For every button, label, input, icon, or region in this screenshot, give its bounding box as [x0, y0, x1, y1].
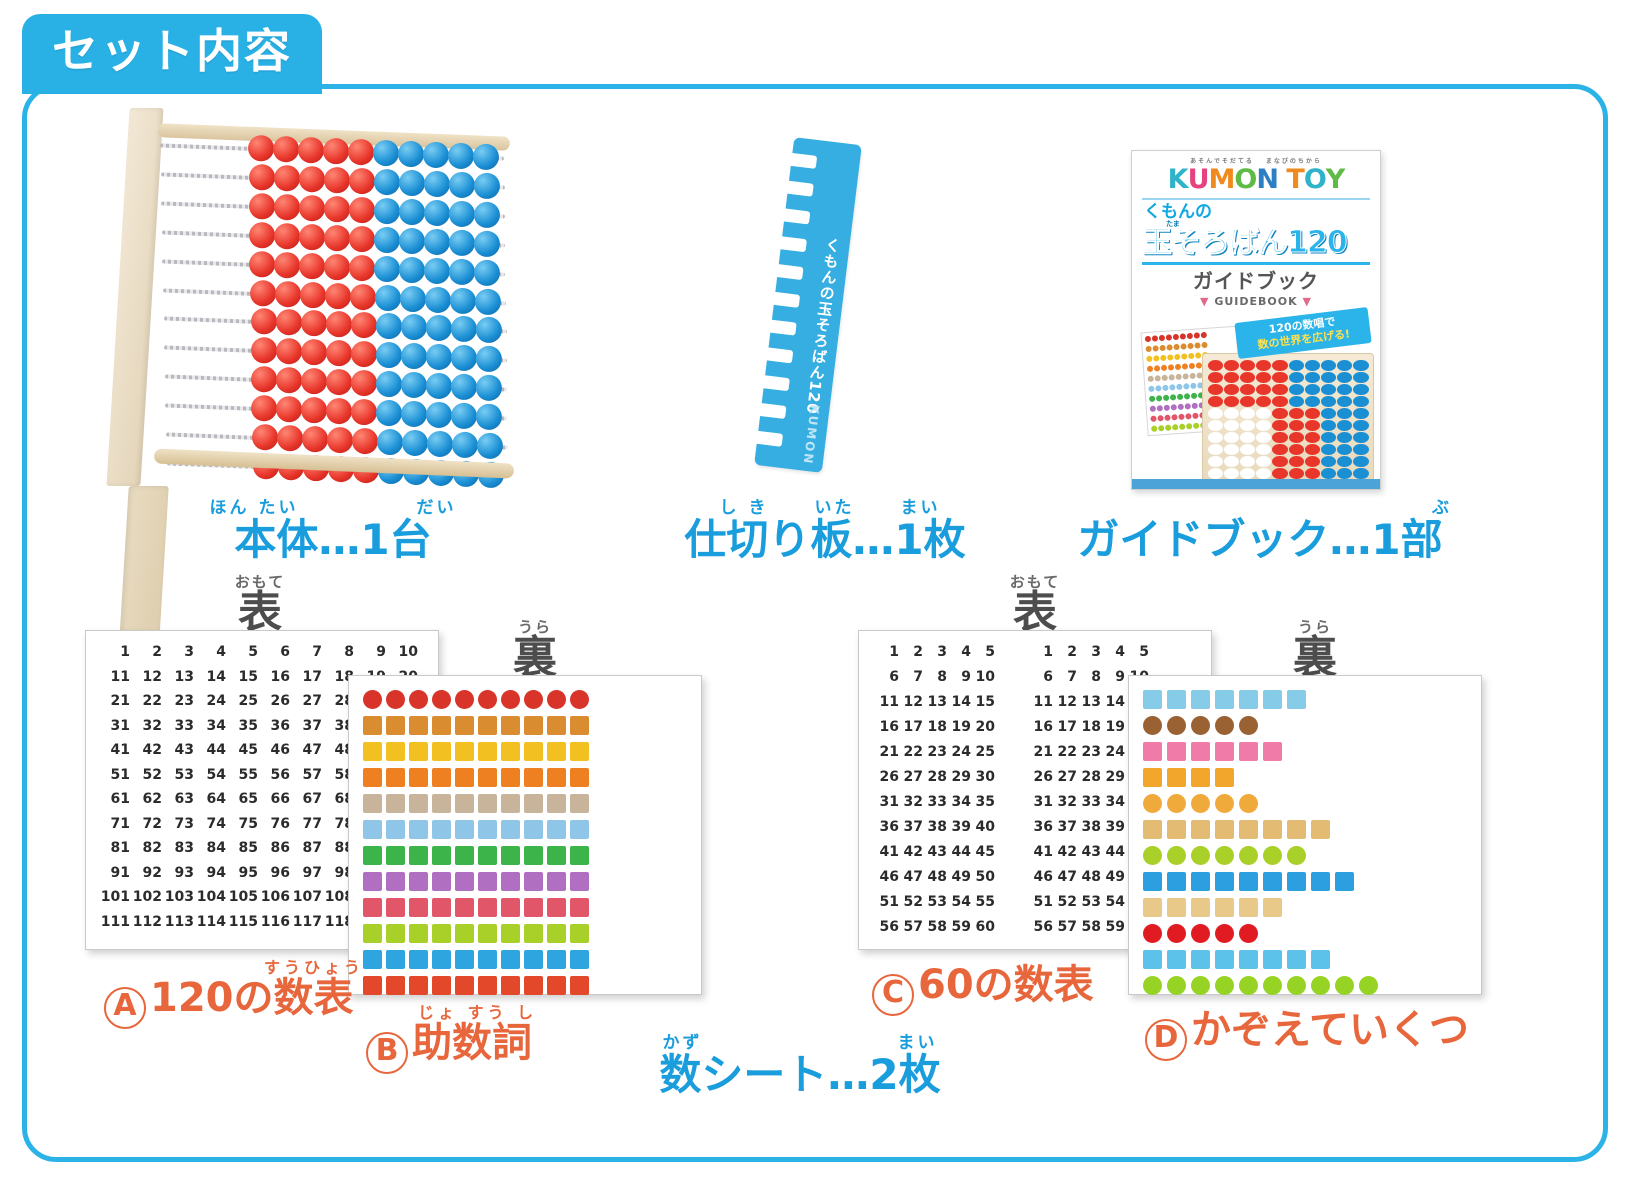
divider-notch: [776, 264, 803, 280]
apple-icon: [501, 690, 520, 709]
guidebook-photo: あそんでそだてる まなびのちから KUMON TOY くもんの たま 玉そろばん…: [1131, 150, 1381, 490]
abacus-bead-blue: [475, 317, 502, 344]
flower-icon: [1263, 742, 1282, 761]
pencil-icon: [1287, 872, 1306, 891]
cow-icon: [501, 794, 520, 813]
sheet-b-grid: [349, 676, 701, 997]
airplane-icon: [409, 950, 428, 969]
guidebook-mini-abacus-row: [1207, 408, 1369, 419]
number-cell: 49: [1103, 870, 1125, 884]
guidebook-mini-bead: [1256, 372, 1271, 383]
number-cell: 23: [164, 694, 194, 708]
balloon-icon: [1167, 924, 1186, 943]
soccer-ball-icon: [1215, 976, 1234, 995]
divider-notch: [786, 181, 813, 197]
guidebook-mini-dot: [1166, 334, 1172, 340]
apple-icon: [455, 690, 474, 709]
milk-carton-icon: [1287, 690, 1306, 709]
guidebook-mini-dot: [1163, 395, 1169, 401]
number-cell: 32: [901, 795, 923, 809]
number-cell: 16: [260, 670, 290, 684]
abacus-bead-blue: [374, 226, 401, 253]
abacus-bead-red: [299, 252, 326, 279]
guidebook-mini-dot: [1182, 363, 1188, 369]
number-cell: 41: [877, 845, 899, 859]
number-cell: 39: [949, 820, 971, 834]
house-icon: [478, 898, 497, 917]
carrot-icon: [455, 768, 474, 787]
number-row: 12345: [1031, 645, 1151, 659]
carrot-icon: [501, 768, 520, 787]
guidebook-mini-bead: [1289, 432, 1304, 443]
guidebook-mini-bead: [1337, 360, 1352, 371]
guidebook-mini-dot: [1162, 385, 1168, 391]
back-label-left: うら 裏: [455, 620, 615, 680]
guidebook-mini-bead: [1337, 444, 1352, 455]
guidebook-mini-abacus-row: [1207, 444, 1369, 455]
carrot-icon: [478, 768, 497, 787]
abacus-bead-red: [349, 254, 376, 281]
guidebook-mini-dot: [1152, 345, 1158, 351]
cookie-icon: [1143, 794, 1162, 813]
number-cell: 53: [164, 768, 194, 782]
guidebook-mini-bead: [1289, 384, 1304, 395]
number-cell: 5: [1127, 645, 1149, 659]
dog-icon: [1191, 820, 1210, 839]
airplane-icon: [455, 950, 474, 969]
abacus-bead-blue: [398, 198, 425, 225]
furigana-suuhyou-a: すうひょう: [264, 960, 364, 976]
abacus-bead-blue: [399, 227, 426, 254]
guidebook-mini-bead: [1289, 396, 1304, 407]
icon-row: [363, 948, 701, 971]
kumon-toy-logo-letter: N: [1256, 166, 1278, 193]
number-cell: 8: [324, 645, 354, 659]
guidebook-mini-bead: [1321, 444, 1336, 455]
number-cell: 3: [1079, 645, 1101, 659]
guidebook-mini-bead: [1208, 420, 1223, 431]
icon-row: [1143, 714, 1481, 737]
sheet-c-label-block: C60の数表: [872, 965, 1094, 1016]
cat-icon: [432, 716, 451, 735]
header-tab: セット内容: [22, 14, 322, 88]
leaf-icon: [409, 846, 428, 865]
juice-icon: [1215, 768, 1234, 787]
number-cell: 10: [973, 670, 995, 684]
guidebook-mini-bead: [1272, 444, 1287, 455]
guidebook-mini-abacus-row: [1207, 456, 1369, 467]
number-cell: 11: [877, 695, 899, 709]
divider-notch: [790, 153, 817, 169]
guidebook-mini-bead: [1337, 456, 1352, 467]
omote-label-left: 表: [180, 591, 340, 635]
dog-icon: [1167, 820, 1186, 839]
icon-row: [363, 922, 701, 945]
guidebook-mini-dot: [1185, 413, 1191, 419]
guidebook-mini-bead: [1337, 384, 1352, 395]
guidebook-mini-bead: [1240, 360, 1255, 371]
pencil-icon: [1215, 872, 1234, 891]
abacus-bead-blue: [400, 314, 427, 341]
guidebook-mini-dot: [1148, 376, 1154, 382]
number-cell: 76: [260, 817, 290, 831]
guidebook-mini-dot: [1168, 364, 1174, 370]
number-cell: 15: [228, 670, 258, 684]
guidebook-mini-bead: [1305, 432, 1320, 443]
number-cell: 58: [1079, 920, 1101, 934]
icon-row: [363, 896, 701, 919]
carrot-icon: [363, 768, 382, 787]
airplane-icon: [386, 950, 405, 969]
icon-row: [363, 688, 701, 711]
number-cell: 45: [228, 743, 258, 757]
guidebook-mini-dot: [1175, 364, 1181, 370]
number-cell: 10: [388, 645, 418, 659]
balloon-icon: [1143, 924, 1162, 943]
main-body-caption-block: ほん たい だい 本体…1台: [118, 500, 548, 561]
number-cell: 51: [1031, 895, 1053, 909]
number-cell: 75: [228, 817, 258, 831]
number-cell: 111: [100, 915, 130, 929]
number-cell: 36: [1031, 820, 1053, 834]
number-cell: 57: [292, 768, 322, 782]
icon-row: [363, 766, 701, 789]
candy-icon: [1215, 898, 1234, 917]
sheet-a-label-block: すうひょう A120の数表: [104, 960, 364, 1029]
kumon-toy-logo-letter: Y: [1326, 166, 1345, 193]
guidebook-mini-dot: [1155, 385, 1161, 391]
kumon-toy-logo-letter: O: [1234, 166, 1256, 193]
number-cell: 1: [100, 645, 130, 659]
number-cell: 50: [973, 870, 995, 884]
guidebook-subtitle-jp: ガイドブック: [1140, 271, 1372, 291]
number-cell: 6: [260, 645, 290, 659]
guidebook-mini-dot: [1183, 383, 1189, 389]
divider-comb-icon: くもんの玉そろばん120 KUMON: [754, 137, 862, 473]
guidebook-mini-bead: [1353, 432, 1368, 443]
guidebook-mini-dot: [1177, 394, 1183, 400]
guidebook-mini-bead: [1337, 468, 1352, 479]
cat-icon: [478, 716, 497, 735]
bird-icon: [1167, 950, 1186, 969]
guidebook-kumonno: くもんの: [1144, 204, 1372, 221]
donut-icon: [1167, 716, 1186, 735]
number-cell: 94: [196, 866, 226, 880]
number-cell: 32: [1055, 795, 1077, 809]
number-cell: 31: [100, 719, 130, 733]
abacus-bead-red: [248, 164, 275, 191]
number-cell: 14: [196, 670, 226, 684]
abacus-bead-red: [349, 225, 376, 252]
guidebook-mini-dot: [1153, 355, 1159, 361]
number-cell: 52: [1055, 895, 1077, 909]
guidebook-bottom-bar: [1132, 479, 1380, 489]
car-icon: [570, 976, 589, 995]
number-cell: 55: [228, 768, 258, 782]
abacus-bead-blue: [447, 142, 474, 169]
guidebook-mini-dot: [1159, 335, 1165, 341]
number-cell: 33: [925, 795, 947, 809]
dog-icon: [1215, 820, 1234, 839]
abacus-bead-blue: [474, 230, 501, 257]
number-cell: 43: [164, 743, 194, 757]
guidebook-mini-bead: [1240, 444, 1255, 455]
guidebook-cover-photo: 120の数唱で 数の世界を広げる!: [1140, 309, 1372, 479]
drink-icon: [409, 820, 428, 839]
green-apple-icon: [1143, 846, 1162, 865]
guidebook-mini-bead: [1337, 408, 1352, 419]
number-cell: 54: [1103, 895, 1125, 909]
airplane-icon: [524, 950, 543, 969]
chick-icon: [363, 742, 382, 761]
guidebook-mini-bead: [1224, 372, 1239, 383]
number-cell: 6: [877, 670, 899, 684]
guidebook-mini-abacus-row: [1207, 432, 1369, 443]
number-cell: 56: [260, 768, 290, 782]
abacus-bead-blue: [372, 140, 399, 167]
abacus-bead-red: [276, 396, 303, 423]
carrot-icon: [386, 768, 405, 787]
abacus-bead-blue: [423, 170, 450, 197]
train-icon: [501, 872, 520, 891]
guidebook-mini-bead: [1224, 396, 1239, 407]
bird-icon: [1287, 950, 1306, 969]
corn-icon: [501, 924, 520, 943]
guidebook-mini-bead: [1240, 468, 1255, 479]
guidebook-mini-bead: [1353, 468, 1368, 479]
guidebook-mini-bead: [1305, 396, 1320, 407]
flower-icon: [1215, 742, 1234, 761]
guidebook-mini-dot: [1154, 365, 1160, 371]
bird-icon: [1263, 950, 1282, 969]
guidebook-mini-bead: [1321, 384, 1336, 395]
dog-icon: [1239, 820, 1258, 839]
guidebook-mini-bead: [1289, 408, 1304, 419]
icon-row: [1143, 896, 1481, 919]
train-icon: [547, 872, 566, 891]
cat-icon: [409, 716, 428, 735]
number-cell: 28: [1079, 770, 1101, 784]
number-cell: 28: [925, 770, 947, 784]
guidebook-mini-dot: [1180, 343, 1186, 349]
number-cell: 91: [100, 866, 130, 880]
number-cell: 26: [1031, 770, 1053, 784]
divider-notch: [769, 320, 796, 336]
icon-row: [363, 974, 701, 997]
guidebook-mini-bead: [1208, 444, 1223, 455]
divider-caption: 仕切り板…1枚: [620, 519, 1030, 561]
page-title: セット内容: [52, 28, 292, 74]
icon-row: [1143, 948, 1481, 971]
guidebook-mini-dot: [1182, 373, 1188, 379]
guidebook-mini-dot: [1151, 426, 1157, 432]
balloon-icon: [1239, 924, 1258, 943]
bookmark-right-icon: ▼: [1303, 295, 1312, 308]
bird-icon: [1215, 950, 1234, 969]
guidebook-mini-bead: [1321, 408, 1336, 419]
abacus-bead-blue: [400, 343, 427, 370]
kumon-toy-logo-letter: T: [1286, 166, 1303, 193]
number-cell: 35: [228, 719, 258, 733]
abacus-bead-red: [350, 283, 377, 310]
chick-icon: [478, 742, 497, 761]
number-cell: 55: [973, 895, 995, 909]
number-row: 5657585960: [877, 920, 997, 934]
number-cell: 9: [949, 670, 971, 684]
guidebook-mini-bead: [1240, 420, 1255, 431]
abacus-bead-red: [324, 253, 351, 280]
number-cell: 44: [1103, 845, 1125, 859]
abacus-bead-red: [252, 424, 279, 451]
icon-row: [363, 870, 701, 893]
guidebook-mini-dot: [1181, 353, 1187, 359]
abacus-bead-red: [299, 223, 326, 250]
number-cell: 113: [164, 915, 194, 929]
number-cell: 37: [901, 820, 923, 834]
house-icon: [570, 898, 589, 917]
train-icon: [432, 872, 451, 891]
bird-icon: [1143, 950, 1162, 969]
guidebook-mini-bead: [1305, 408, 1320, 419]
abacus-bead-red: [277, 425, 304, 452]
guidebook-mini-bead: [1224, 444, 1239, 455]
pencil-icon: [1143, 872, 1162, 891]
number-cell: 47: [292, 743, 322, 757]
guidebook-mini-dot: [1176, 384, 1182, 390]
drink-icon: [432, 820, 451, 839]
number-cell: 5: [973, 645, 995, 659]
icon-row: [363, 740, 701, 763]
leaf-icon: [363, 846, 382, 865]
abacus-bead-red: [298, 137, 325, 164]
guidebook-mini-bead: [1305, 456, 1320, 467]
guidebook-mini-bead: [1256, 396, 1271, 407]
guidebook-caption-block: ぶ ガイドブック…1部: [1040, 500, 1480, 561]
juice-icon: [1167, 768, 1186, 787]
number-row: 2627282930: [877, 770, 997, 784]
divider-caption-block: し き いた まい 仕切り板…1枚: [620, 500, 1030, 561]
guidebook-mini-abacus-row: [1207, 468, 1369, 479]
abacus-bead-red: [348, 196, 375, 223]
divider-notch: [780, 236, 807, 252]
green-apple-icon: [1167, 846, 1186, 865]
number-row: 1112131415: [877, 695, 997, 709]
guidebook-mini-bead: [1272, 432, 1287, 443]
abacus-bead-blue: [426, 430, 453, 457]
carrot-icon: [432, 768, 451, 787]
guidebook-mini-dot: [1185, 403, 1191, 409]
number-cell: 35: [973, 795, 995, 809]
pencil-icon: [1335, 872, 1354, 891]
number-cell: 2: [132, 645, 162, 659]
cat-icon: [524, 716, 543, 735]
number-cell: 52: [132, 768, 162, 782]
guidebook-mini-dot: [1157, 405, 1163, 411]
train-icon: [478, 872, 497, 891]
abacus-bead-blue: [426, 402, 453, 429]
guidebook-mini-dot: [1175, 374, 1181, 380]
cow-icon: [478, 794, 497, 813]
abacus-bead-blue: [424, 286, 451, 313]
sheet-d-label: Dかぞえていくつ: [1145, 1010, 1469, 1061]
abacus-bead-blue: [397, 141, 424, 168]
abacus-bead-red: [323, 138, 350, 165]
abacus-bead-red: [301, 397, 328, 424]
cow-icon: [547, 794, 566, 813]
number-cell: 5: [228, 645, 258, 659]
sheets-group-caption: 数シート…2枚: [600, 1054, 1000, 1096]
abacus-bead-red: [326, 369, 353, 396]
front-label-left: おもて 表: [180, 575, 340, 635]
abacus-bead-red: [250, 308, 277, 335]
apple-icon: [409, 690, 428, 709]
guidebook-rule: [1142, 198, 1370, 200]
abacus-bead-red: [323, 167, 350, 194]
number-cell: 22: [132, 694, 162, 708]
sheet-c-mark: C: [872, 974, 914, 1016]
abacus-bead-red: [300, 310, 327, 337]
guidebook-mini-dot: [1156, 395, 1162, 401]
abacus-bead-blue: [476, 403, 503, 430]
number-cell: 48: [1079, 870, 1101, 884]
number-cell: 46: [260, 743, 290, 757]
house-icon: [524, 898, 543, 917]
bird-icon: [1191, 950, 1210, 969]
guidebook-mini-bead: [1240, 432, 1255, 443]
abacus-bead-blue: [450, 345, 477, 372]
number-cell: 117: [292, 915, 322, 929]
chick-icon: [501, 742, 520, 761]
cow-icon: [363, 794, 382, 813]
corn-icon: [386, 924, 405, 943]
number-cell: 8: [925, 670, 947, 684]
guidebook-mini-dot: [1159, 345, 1165, 351]
chick-icon: [570, 742, 589, 761]
abacus-bead-red: [248, 135, 275, 162]
leaf-icon: [524, 846, 543, 865]
number-cell: 56: [1031, 920, 1053, 934]
drink-icon: [524, 820, 543, 839]
leaf-icon: [547, 846, 566, 865]
sheet-d-mark: D: [1145, 1019, 1187, 1061]
guidebook-mini-dot: [1161, 365, 1167, 371]
number-cell: 60: [973, 920, 995, 934]
kumon-toy-logo-letter: U: [1188, 166, 1209, 193]
candy-icon: [1239, 898, 1258, 917]
abacus-bead-red: [273, 165, 300, 192]
dog-icon: [1287, 820, 1306, 839]
guidebook-mini-dot: [1147, 366, 1153, 372]
abacus-bead-red: [302, 426, 329, 453]
number-cell: 23: [925, 745, 947, 759]
drink-icon: [547, 820, 566, 839]
furigana-josuushi-b: じょ すう し: [418, 1005, 537, 1021]
leaf-icon: [455, 846, 474, 865]
number-cell: 24: [196, 694, 226, 708]
number-cell: 33: [164, 719, 194, 733]
number-cell: 4: [1103, 645, 1125, 659]
guidebook-mini-abacus: [1202, 353, 1374, 490]
number-cell: 12: [1055, 695, 1077, 709]
guidebook-mini-bead: [1305, 444, 1320, 455]
icon-row: [363, 818, 701, 841]
guidebook-mini-dot: [1168, 374, 1174, 380]
airplane-icon: [570, 950, 589, 969]
guidebook-mini-bead: [1208, 456, 1223, 467]
number-cell: 59: [1103, 920, 1125, 934]
divider-board-photo: くもんの玉そろばん120 KUMON: [760, 140, 890, 480]
guidebook-banner: 120の数唱で 数の世界を広げる!: [1234, 307, 1371, 359]
